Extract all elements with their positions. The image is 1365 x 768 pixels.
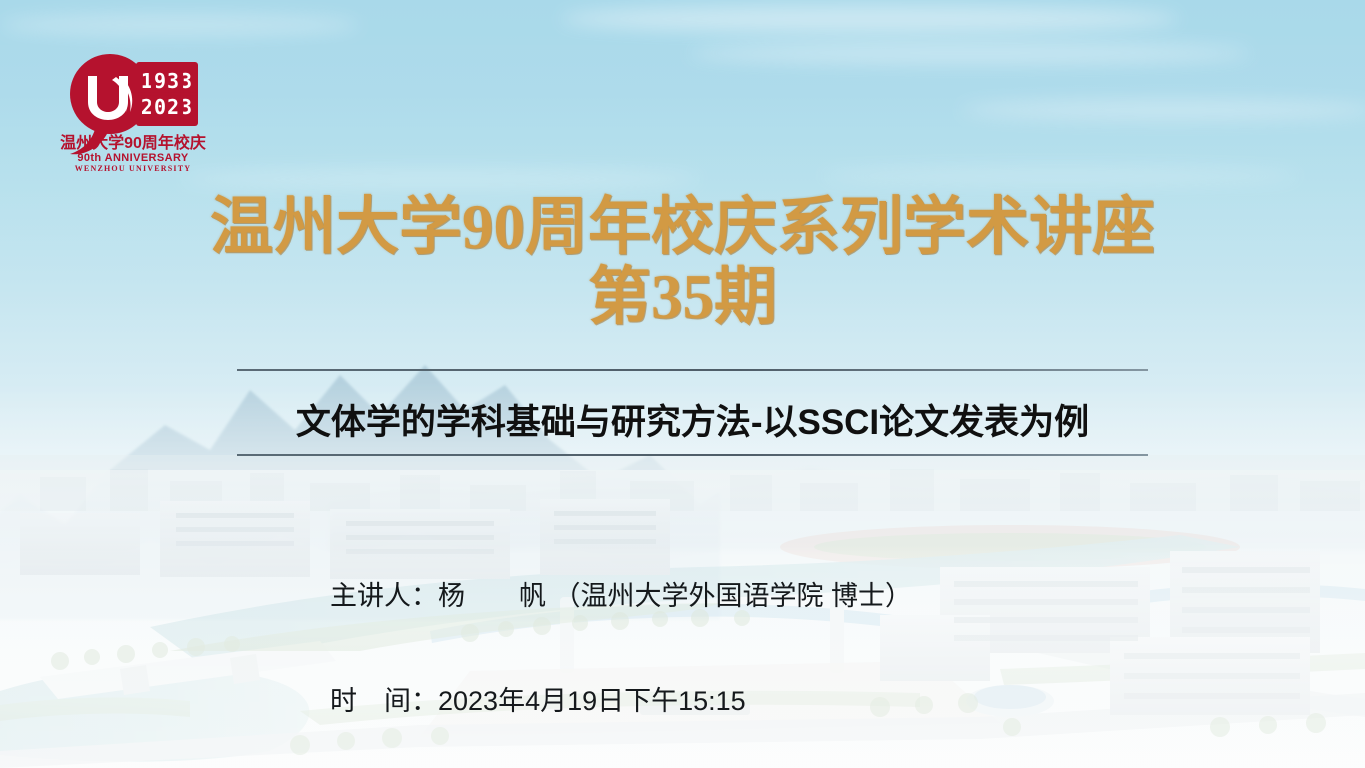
cloud-streak-icon xyxy=(690,42,1250,64)
title-line-1: 温州大学90周年校庆系列学术讲座 xyxy=(210,192,1155,262)
cloud-streak-icon xyxy=(180,170,700,188)
logo-cn-text: 温州大学90周年校庆 xyxy=(59,133,206,152)
detail-speaker: 主讲人：杨 帆 （温州大学外国语学院 博士） xyxy=(330,579,912,614)
cloud-streak-icon xyxy=(560,6,1180,32)
detail-time: 时 间：2023年4月19日下午15:15 xyxy=(330,684,912,719)
logo-en-subtext: WENZHOU UNIVERSITY xyxy=(75,164,192,173)
divider-bottom xyxy=(237,454,1148,456)
title-line-2: 第35期 xyxy=(0,262,1365,332)
page-title: 温州大学90周年校庆系列学术讲座 第35期 xyxy=(0,192,1365,332)
divider-top xyxy=(237,369,1148,371)
lecture-details: 主讲人：杨 帆 （温州大学外国语学院 博士） 时 间：2023年4月19日下午1… xyxy=(330,509,912,768)
lecture-subtitle: 文体学的学科基础与研究方法-以SSCI论文发表为例 xyxy=(237,385,1148,453)
cloud-streak-icon xyxy=(0,14,360,36)
cloud-streak-icon xyxy=(820,168,1300,184)
cloud-streak-icon xyxy=(960,100,1365,120)
university-anniversary-logo: 1933 2023 温州大学90周年校庆 90th ANNIVERSARY WE… xyxy=(38,46,228,174)
logo-en-text: 90th ANNIVERSARY xyxy=(77,152,189,164)
lecture-poster-slide: 1933 2023 温州大学90周年校庆 90th ANNIVERSARY WE… xyxy=(0,0,1365,768)
